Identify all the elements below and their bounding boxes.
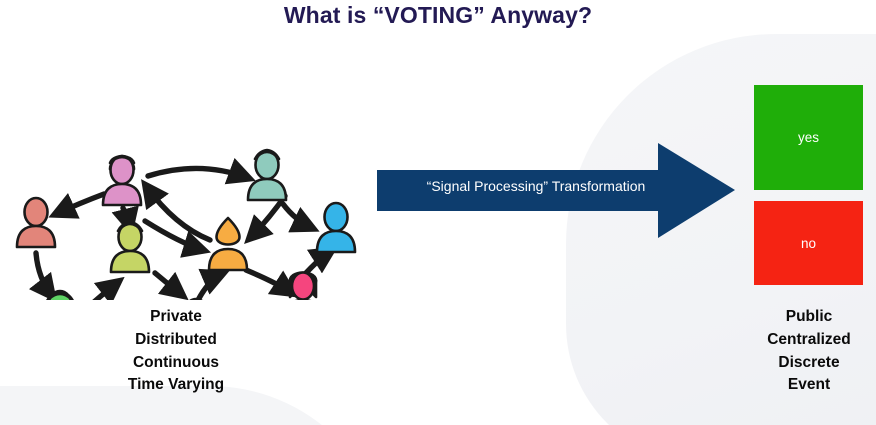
person-pink-icon — [103, 156, 141, 205]
page-title: What is “VOTING” Anyway? — [0, 2, 876, 29]
right-caption-line-4: Event — [735, 374, 876, 397]
person-salmon-icon — [17, 198, 55, 247]
right-caption: Public Centralized Discrete Event — [735, 306, 876, 397]
left-caption-line-1: Private — [78, 306, 274, 329]
slide-canvas: What is “VOTING” Anyway? — [0, 0, 876, 425]
person-yellowgreen-icon — [111, 222, 149, 272]
people-network-diagram — [0, 68, 380, 300]
person-blue-icon — [317, 203, 355, 252]
right-caption-line-3: Discrete — [735, 352, 876, 375]
left-caption-line-2: Distributed — [78, 329, 274, 352]
left-caption: Private Distributed Continuous Time Vary… — [78, 306, 274, 397]
person-teal-icon — [248, 150, 286, 200]
network-edges — [36, 168, 331, 300]
yes-box: yes — [754, 85, 863, 190]
right-caption-line-2: Centralized — [735, 329, 876, 352]
arrow-label: “Signal Processing” Transformation — [377, 178, 695, 194]
person-orange-icon — [209, 218, 247, 270]
no-box: no — [754, 201, 863, 285]
person-hotpink-icon — [284, 273, 322, 301]
yes-box-label: yes — [798, 130, 819, 145]
left-caption-line-3: Continuous — [78, 352, 274, 375]
no-box-label: no — [801, 236, 816, 251]
left-caption-line-4: Time Varying — [78, 374, 274, 397]
right-caption-line-1: Public — [735, 306, 876, 329]
person-purple-icon — [177, 299, 215, 300]
